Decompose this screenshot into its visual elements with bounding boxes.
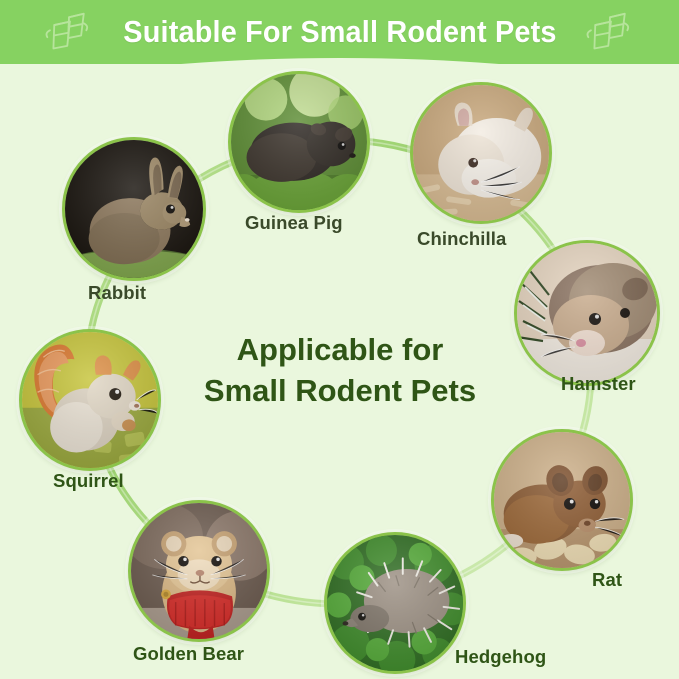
animal-photo-squirrel[interactable] xyxy=(19,329,161,471)
animal-node-guinea-pig[interactable] xyxy=(228,71,370,213)
animal-label-golden-bear: Golden Bear xyxy=(133,643,244,665)
animal-photo-chinchilla[interactable] xyxy=(410,82,552,224)
animal-node-squirrel[interactable] xyxy=(19,329,161,471)
animal-photo-hamster[interactable] xyxy=(514,240,660,386)
animal-node-chinchilla[interactable] xyxy=(410,82,552,224)
animal-label-rabbit: Rabbit xyxy=(88,282,146,304)
poster-canvas: Suitable For Small Rodent Pets xyxy=(0,0,679,679)
animal-photo-golden-bear[interactable] xyxy=(128,500,270,642)
cups-icon-left xyxy=(43,9,95,55)
animal-node-hamster[interactable] xyxy=(514,240,660,386)
animal-node-rat[interactable] xyxy=(491,429,633,571)
center-caption: Applicable for Small Rodent Pets xyxy=(140,330,540,412)
animal-node-hedgehog[interactable] xyxy=(324,532,466,674)
center-caption-line2: Small Rodent Pets xyxy=(140,371,540,412)
animal-node-rabbit[interactable] xyxy=(62,137,206,281)
cups-icon-right xyxy=(584,9,636,55)
animal-node-golden-bear[interactable] xyxy=(128,500,270,642)
animal-photo-hedgehog[interactable] xyxy=(324,532,466,674)
animal-photo-rabbit[interactable] xyxy=(62,137,206,281)
page-title: Suitable For Small Rodent Pets xyxy=(123,14,556,50)
animal-label-guinea-pig: Guinea Pig xyxy=(245,212,343,234)
center-caption-line1: Applicable for xyxy=(140,330,540,371)
animal-label-hamster: Hamster xyxy=(561,373,636,395)
animal-photo-rat[interactable] xyxy=(491,429,633,571)
header-title-row: Suitable For Small Rodent Pets xyxy=(0,0,679,64)
animal-label-rat: Rat xyxy=(592,569,622,591)
animal-label-squirrel: Squirrel xyxy=(53,470,124,492)
animal-label-hedgehog: Hedgehog xyxy=(455,646,546,668)
animal-photo-guinea-pig[interactable] xyxy=(228,71,370,213)
animal-label-chinchilla: Chinchilla xyxy=(417,228,506,250)
